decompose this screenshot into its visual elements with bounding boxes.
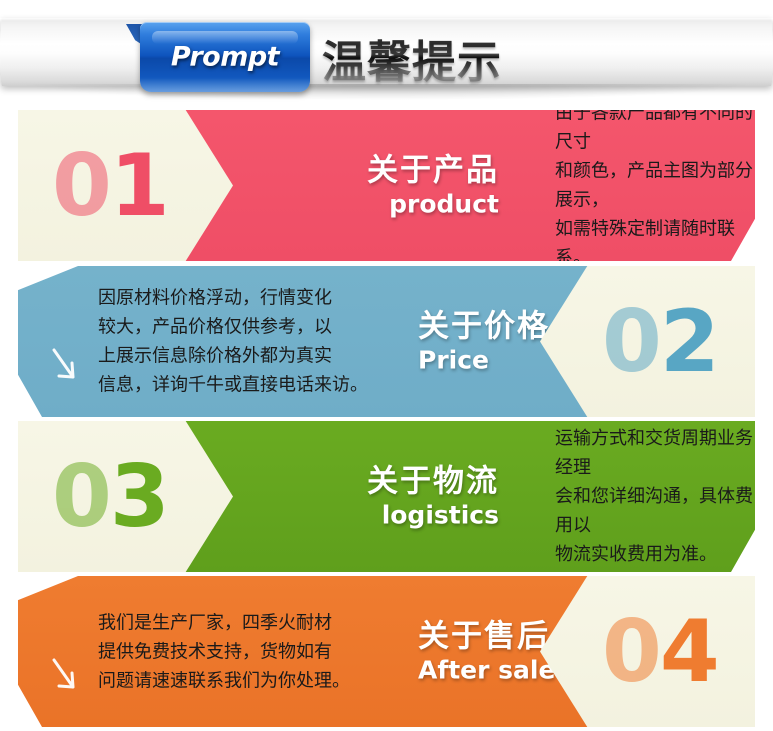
row-heading-logistics: 关于物流 logistics <box>367 466 499 527</box>
row-body-price: 关于价格 Price 因原材料价格浮动，行情变化 较大，产品价格仅供参考，以 上… <box>18 266 618 417</box>
page-title: 温馨提示 <box>322 26 502 90</box>
arrow-down-right-icon <box>48 346 82 386</box>
row-heading-price: 关于价格 Price <box>418 311 550 372</box>
row-number-price: 02 <box>602 299 718 385</box>
row-heading-cn: 关于产品 <box>367 155 499 186</box>
prompt-ribbon: Prompt <box>140 22 310 92</box>
row-paragraph-product: 由于各款产品都有不同的尺寸 和颜色，产品主图为部分展示， 如需特殊定制请随时联系… <box>555 98 755 273</box>
row-paragraph-price: 因原材料价格浮动，行情变化 较大，产品价格仅供参考，以 上展示信息除价格外都为真… <box>98 283 368 400</box>
info-row-after-sale: 关于售后 After sale 我们是生产厂家，四季火耐材 提供免费技术支持，货… <box>0 576 773 731</box>
row-heading-after-sale: 关于售后 After sale <box>418 621 555 682</box>
row-number-after-sale: 04 <box>602 609 718 695</box>
row-heading-cn: 关于售后 <box>418 621 555 652</box>
row-number-logistics: 03 <box>52 454 168 540</box>
row-number-product: 01 <box>52 143 168 229</box>
info-row-product: 关于产品 product 由于各款产品都有不同的尺寸 和颜色，产品主图为部分展示… <box>0 110 773 265</box>
row-heading-cn: 关于价格 <box>418 311 550 342</box>
row-heading-en: After sale <box>418 657 555 682</box>
info-row-logistics: 关于物流 logistics 运输方式和交货周期业务经理 会和您详细沟通，具体费… <box>0 421 773 576</box>
row-heading-en: Price <box>418 347 550 372</box>
row-body-after-sale: 关于售后 After sale 我们是生产厂家，四季火耐材 提供免费技术支持，货… <box>18 576 618 727</box>
row-heading-product: 关于产品 product <box>367 155 499 216</box>
row-paragraph-logistics: 运输方式和交货周期业务经理 会和您详细沟通，具体费用以 物流实收费用为准。 <box>555 424 755 570</box>
arrow-down-right-icon <box>48 656 82 696</box>
header-banner: Prompt 温馨提示 <box>0 18 773 86</box>
info-row-price: 关于价格 Price 因原材料价格浮动，行情变化 较大，产品价格仅供参考，以 上… <box>0 266 773 421</box>
row-paragraph-after-sale: 我们是生产厂家，四季火耐材 提供免费技术支持，货物如有 问题请速速联系我们为你处… <box>98 608 350 695</box>
row-body-product: 关于产品 product 由于各款产品都有不同的尺寸 和颜色，产品主图为部分展示… <box>155 110 755 261</box>
ribbon-label: Prompt <box>140 42 310 73</box>
row-body-logistics: 关于物流 logistics 运输方式和交货周期业务经理 会和您详细沟通，具体费… <box>155 421 755 572</box>
row-heading-cn: 关于物流 <box>367 466 499 497</box>
row-heading-en: logistics <box>367 502 499 527</box>
row-heading-en: product <box>367 191 499 216</box>
